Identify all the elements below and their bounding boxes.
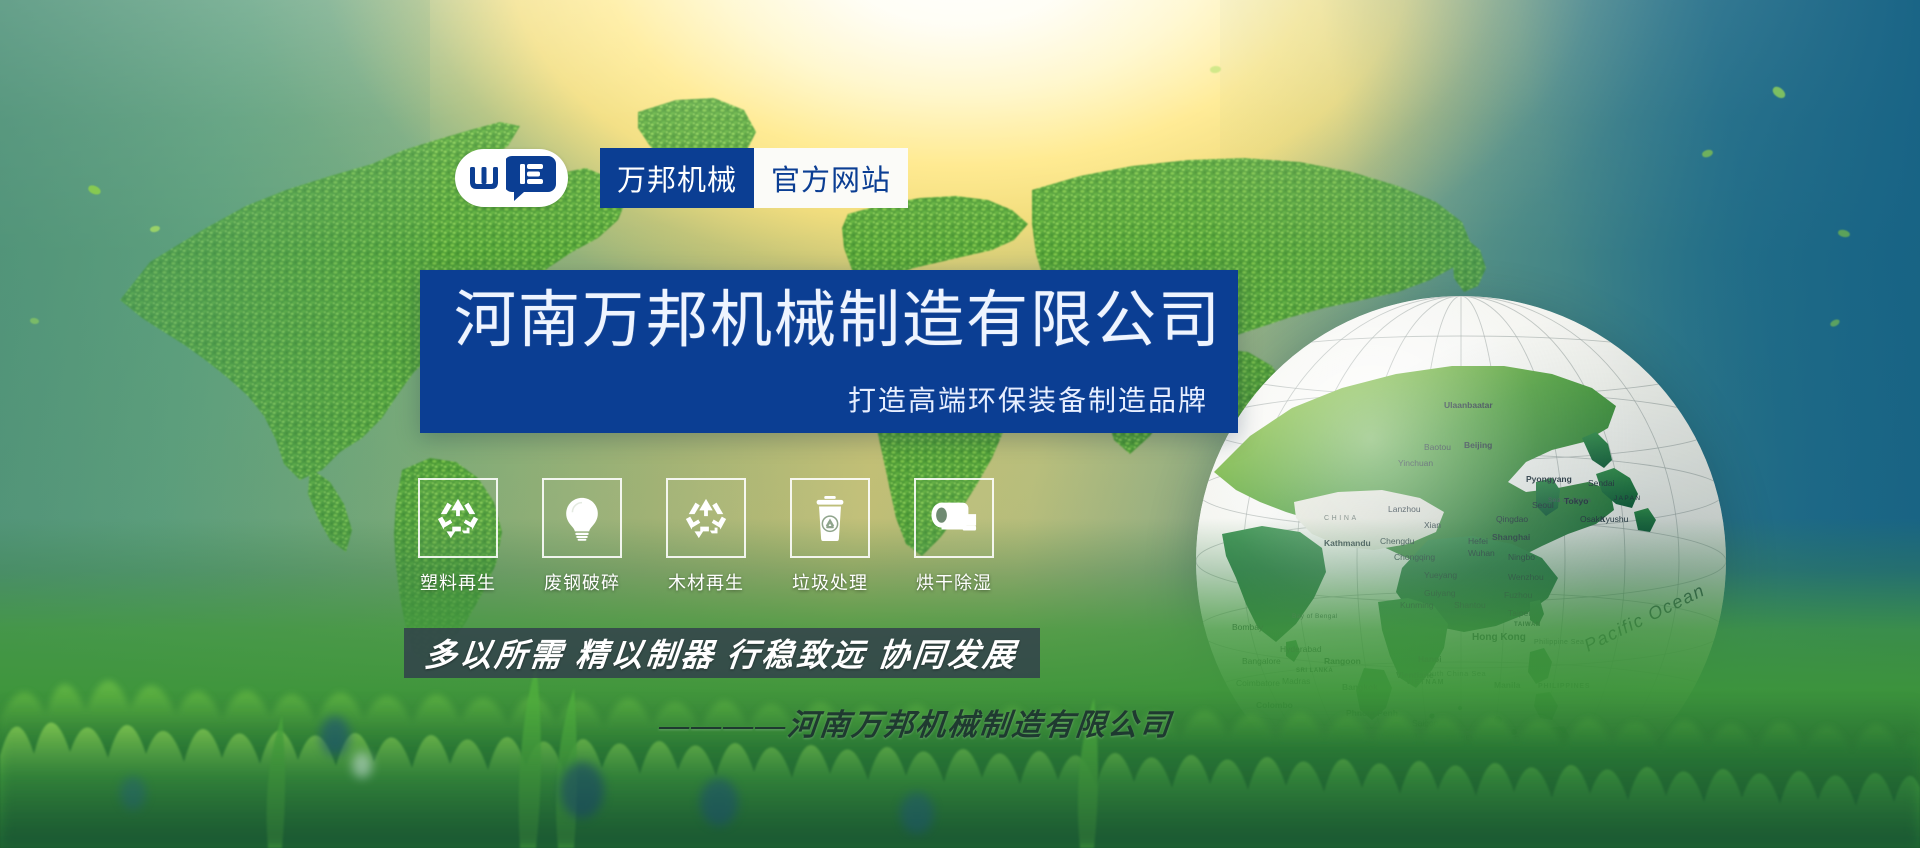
feature-item-drying-dehumidifying[interactable]: 烘干除湿 [916,478,992,595]
feature-item-plastic-recycling[interactable]: 塑料再生 [420,478,496,595]
page-title: 河南万邦机械制造有限公司 [454,288,1222,353]
svg-text:Seoul: Seoul [1532,500,1554,510]
trash-bin-recycle-icon [809,495,851,541]
svg-text:Ulaanbaatar: Ulaanbaatar [1444,400,1493,410]
tab-official-site[interactable]: 官方网站 [754,148,908,208]
svg-text:Pyongyang: Pyongyang [1526,474,1572,484]
feature-icon-box[interactable] [790,478,870,558]
slogan-bar: 多以所需 精以制器 行稳致远 协同发展 [404,628,1040,678]
slogan-text: 多以所需 精以制器 行稳致远 协同发展 [423,630,1021,676]
feature-label: 木材再生 [668,569,744,595]
feature-item-wood-recycling[interactable]: 木材再生 [668,478,744,595]
feature-label: 垃圾处理 [792,569,868,595]
svg-text:Yinchuan: Yinchuan [1398,458,1433,468]
svg-text:JAPAN: JAPAN [1614,495,1641,502]
page-subtitle: 打造高端环保装备制造品牌 [848,379,1208,419]
feature-icon-box[interactable] [542,478,622,558]
feature-label: 塑料再生 [420,569,496,595]
wb-speech-bubble-logo[interactable] [455,149,568,207]
svg-text:Baotou: Baotou [1424,442,1451,452]
feature-label: 烘干除湿 [916,569,992,595]
hero-title-box: 河南万邦机械制造有限公司 打造高端环保装备制造品牌 [420,270,1238,433]
tab-company-name[interactable]: 万邦机械 [600,148,754,208]
lightbulb-icon [559,495,605,541]
b-speech-bubble-icon [506,154,556,202]
dryer-machine-icon [930,498,978,538]
recycle-icon [435,495,481,541]
svg-text:Beijing: Beijing [1464,440,1492,450]
w-letter-icon [467,161,501,195]
feature-item-waste-treatment[interactable]: 垃圾处理 [792,478,868,595]
slogan-signature: ————河南万邦机械制造有限公司 [658,700,1183,744]
hero-banner: Pacific Ocean Indian Ocean South China S… [0,0,1920,848]
svg-text:Lanzhou: Lanzhou [1388,504,1421,514]
svg-text:Sendai: Sendai [1588,478,1615,488]
logo-row[interactable]: 万邦机械 官方网站 [455,148,908,208]
logo-tabs[interactable]: 万邦机械 官方网站 [600,148,908,208]
feature-item-steel-shredding[interactable]: 废钢破碎 [544,478,620,595]
feature-icon-box[interactable] [666,478,746,558]
feature-icon-box[interactable] [418,478,498,558]
feature-label: 废钢破碎 [544,569,620,595]
feature-icon-row: 塑料再生 废钢破碎 [420,478,992,595]
recycle-icon [683,495,729,541]
svg-text:Tokyo: Tokyo [1564,496,1588,506]
feature-icon-box[interactable] [914,478,994,558]
